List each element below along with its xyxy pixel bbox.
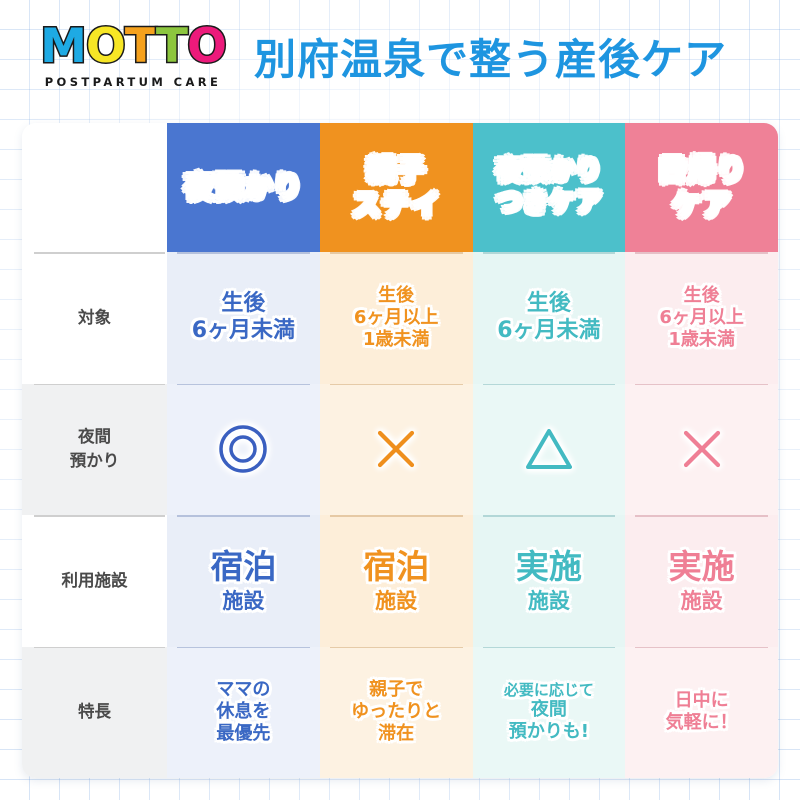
cell-text: 生後 6ヶ月以上 1歳未満 <box>354 285 439 351</box>
cross-symbol <box>678 425 726 473</box>
logo-letter-o1: O <box>86 23 125 70</box>
logo-tagline: POSTPARTUM CARE <box>45 75 222 89</box>
cell-text: 生後 6ヶ月以上 1歳未満 <box>659 285 744 351</box>
row-label-facility: 利用施設 <box>22 515 167 647</box>
cell-text: 親子で ゆったりと 滞在 <box>351 679 441 745</box>
cell-text-sub: 施設 <box>528 589 570 615</box>
table-header-row: 夜預かり 親子 ステイ 夜預かり つきケア 日帰り ケア <box>22 123 778 252</box>
row-label-night-care: 夜間 預かり <box>22 384 167 516</box>
cell-feature-higaeri-care: 日中に 気軽に！ <box>625 647 778 779</box>
cell-text-main: 実施 <box>669 547 735 587</box>
cell-facility-yoazukari: 宿泊 施設 <box>167 515 320 647</box>
cell-text: ママの 休息を 最優先 <box>216 679 270 745</box>
cell-text: 生後 6ヶ月未満 <box>192 291 295 345</box>
cell-target-yoazukari-tsuki-care: 生後 6ヶ月未満 <box>473 252 626 384</box>
table-row: 特長 ママの 休息を 最優先 親子で ゆったりと 滞在 必要に応じて 夜間 預か… <box>22 647 778 779</box>
cell-text-main: 実施 <box>516 547 582 587</box>
column-header-higaeri-care: 日帰り ケア <box>625 123 778 252</box>
cell-feature-yoazukari-tsuki-care: 必要に応じて 夜間 預かりも! <box>473 647 626 779</box>
cell-night-care-higaeri-care <box>625 384 778 516</box>
column-header-oyako-stay: 親子 ステイ <box>320 123 473 252</box>
logo-letter-m: M <box>40 23 86 70</box>
table-corner-cell <box>22 123 167 252</box>
table-row: 対象 生後 6ヶ月未満 生後 6ヶ月以上 1歳未満 生後 6ヶ月未満 生後 6ヶ… <box>22 252 778 384</box>
cell-facility-oyako-stay: 宿泊 施設 <box>320 515 473 647</box>
comparison-table: 夜預かり 親子 ステイ 夜預かり つきケア 日帰り ケア 対象 生後 6ヶ月未満… <box>22 123 778 778</box>
row-label-feature: 特長 <box>22 647 167 779</box>
column-header-yoazukari-tsuki-care: 夜預かり つきケア <box>473 123 626 252</box>
cell-target-higaeri-care: 生後 6ヶ月以上 1歳未満 <box>625 252 778 384</box>
cell-text: 日中に 気軽に！ <box>666 690 738 734</box>
cell-facility-yoazukari-tsuki-care: 実施 施設 <box>473 515 626 647</box>
cross-symbol <box>372 425 420 473</box>
cell-text: 生後 6ヶ月未満 <box>497 291 600 345</box>
double-circle-symbol <box>217 423 269 475</box>
motto-logo: M O T T O POSTPARTUM CARE <box>28 23 238 89</box>
column-header-label: 日帰り ケア <box>657 153 746 223</box>
column-header-label: 親子 ステイ <box>352 153 441 223</box>
page-header: M O T T O POSTPARTUM CARE 別府温泉で整う産後ケア <box>0 0 800 112</box>
cell-night-care-yoazukari-tsuki-care <box>473 384 626 516</box>
cell-night-care-yoazukari <box>167 384 320 516</box>
cell-text-sub: 施設 <box>681 589 723 615</box>
cell-text-main: 宿泊 <box>210 547 276 587</box>
cell-text-main: 宿泊 <box>363 547 429 587</box>
cell-facility-higaeri-care: 実施 施設 <box>625 515 778 647</box>
cell-text-top: 必要に応じて <box>504 681 594 699</box>
logo-letter-t1: T <box>125 23 156 70</box>
column-header-yoazukari: 夜預かり <box>167 123 320 252</box>
cell-target-yoazukari: 生後 6ヶ月未満 <box>167 252 320 384</box>
triangle-symbol <box>523 425 575 473</box>
row-label-target: 対象 <box>22 252 167 384</box>
cell-feature-yoazukari: ママの 休息を 最優先 <box>167 647 320 779</box>
table-row: 夜間 預かり <box>22 384 778 516</box>
column-header-label: 夜預かり <box>184 170 302 205</box>
cell-night-care-oyako-stay <box>320 384 473 516</box>
cell-text: 夜間 預かりも! <box>509 699 589 743</box>
logo-letter-t2: T <box>156 23 187 70</box>
cell-feature-oyako-stay: 親子で ゆったりと 滞在 <box>320 647 473 779</box>
logo-wordmark: M O T T O <box>40 23 226 70</box>
page-title: 別府温泉で整う産後ケア <box>254 26 727 87</box>
table-row: 利用施設 宿泊 施設 宿泊 施設 実施 施設 実施 施設 <box>22 515 778 647</box>
logo-letter-o2: O <box>187 23 226 70</box>
cell-target-oyako-stay: 生後 6ヶ月以上 1歳未満 <box>320 252 473 384</box>
cell-text-sub: 施設 <box>222 589 264 615</box>
cell-text-sub: 施設 <box>375 589 417 615</box>
column-header-label: 夜預かり つきケア <box>496 156 602 218</box>
